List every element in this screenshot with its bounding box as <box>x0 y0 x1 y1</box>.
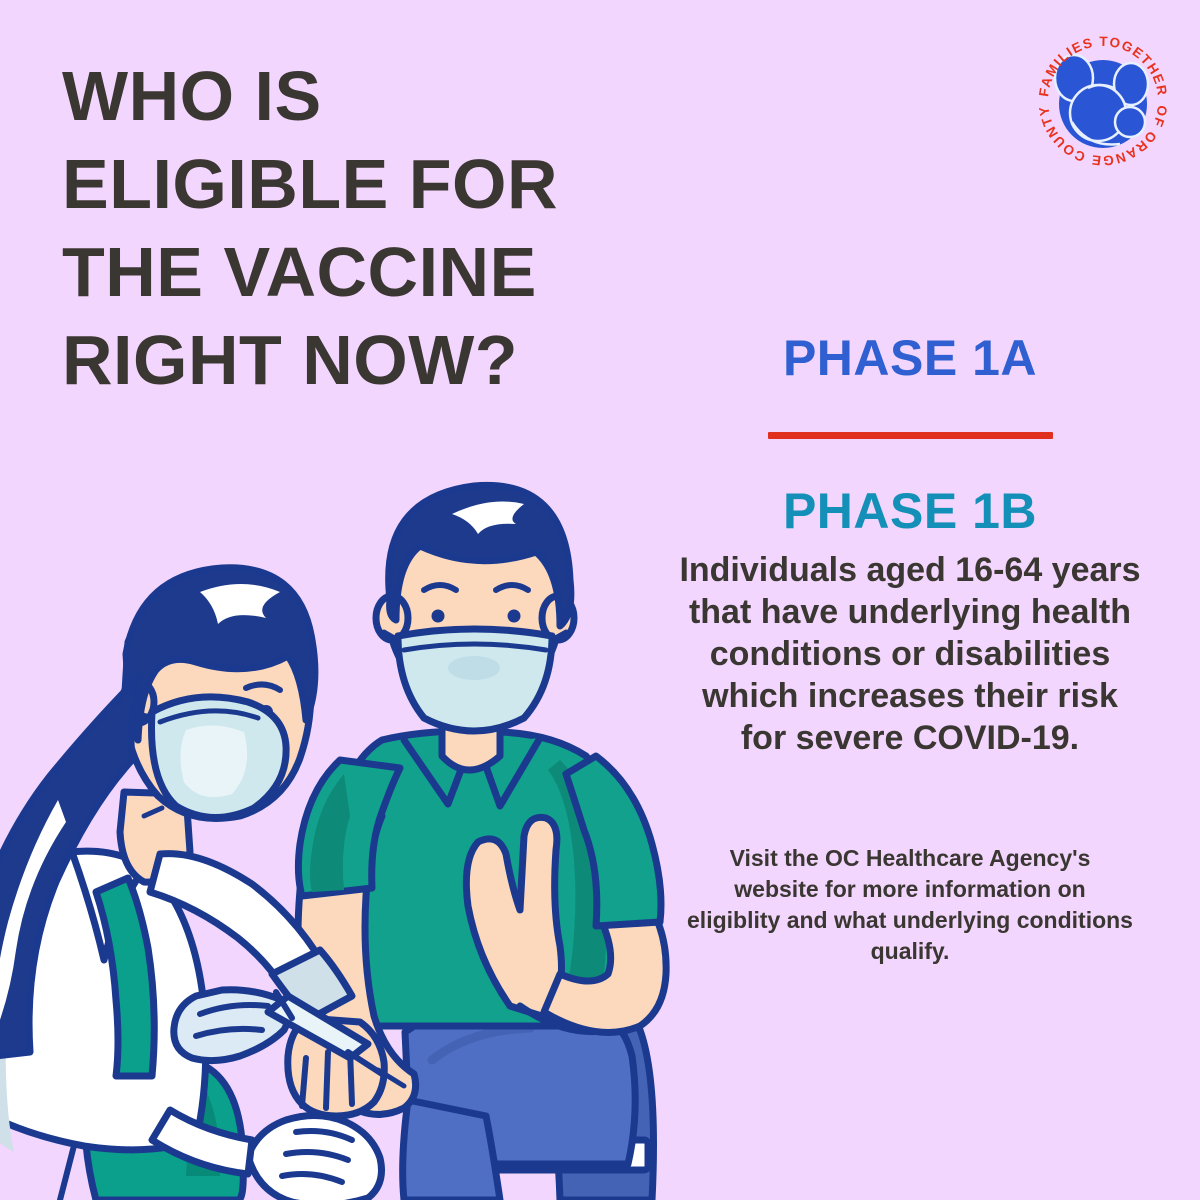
organization-logo: FAMILIES TOGETHER OF ORANGE COUNTY <box>1028 26 1178 176</box>
phase-1b-description: Individuals aged 16-64 years that have u… <box>675 549 1145 759</box>
page-title: WHO IS ELIGIBLE FOR THE VACCINE RIGHT NO… <box>62 52 662 404</box>
poster-canvas: WHO IS ELIGIBLE FOR THE VACCINE RIGHT NO… <box>0 0 1200 1200</box>
vaccination-illustration <box>0 440 700 1200</box>
patient-figure <box>288 485 666 1200</box>
phase-divider <box>768 432 1053 439</box>
phase-1b-heading: PHASE 1B <box>660 483 1160 539</box>
phase-info-panel: PHASE 1A PHASE 1B Individuals aged 16-64… <box>660 330 1160 967</box>
family-mark-icon <box>1055 55 1148 148</box>
footer-note: Visit the OC Healthcare Agency's website… <box>685 843 1135 967</box>
phase-1a-heading: PHASE 1A <box>660 330 1160 386</box>
